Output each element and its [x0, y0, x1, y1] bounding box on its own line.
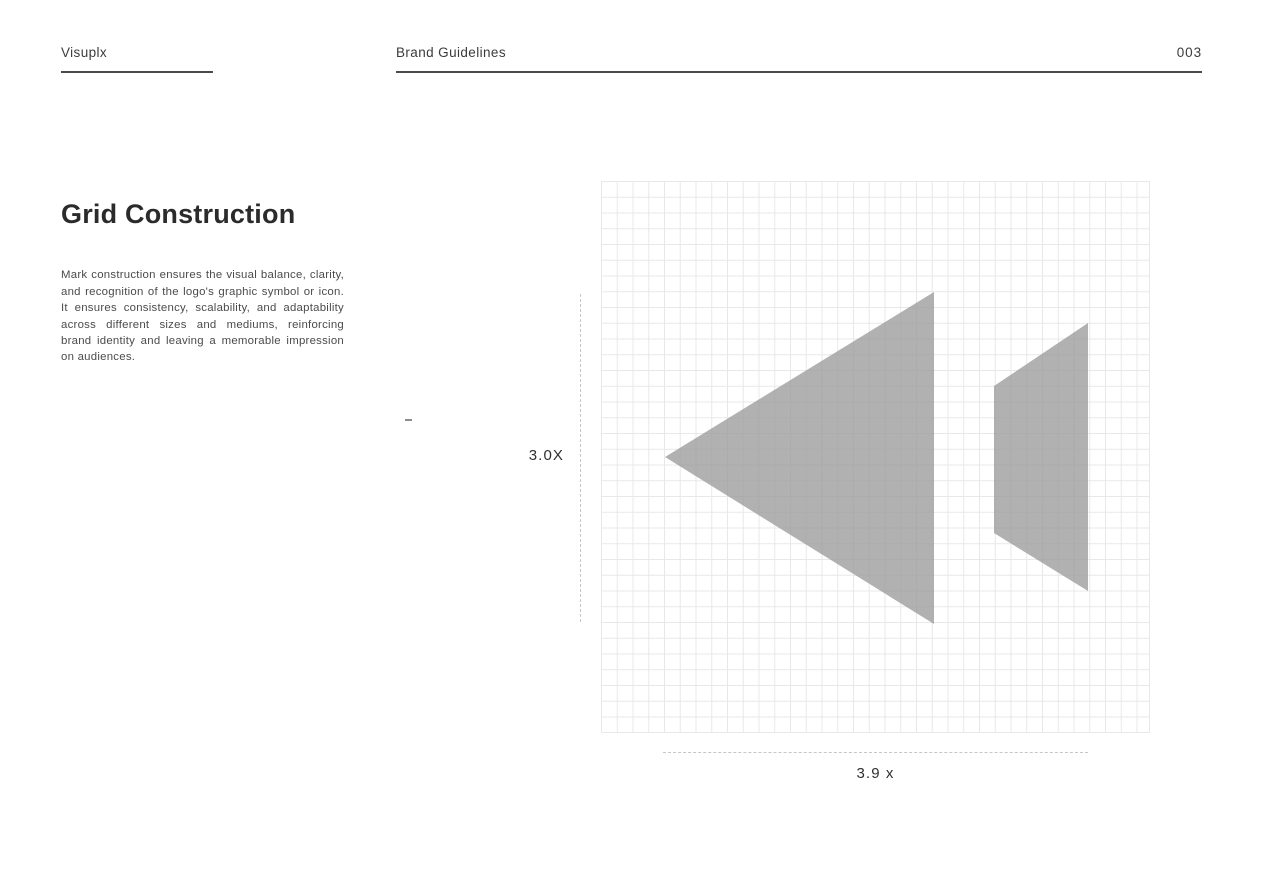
tick-mark-icon	[405, 419, 412, 421]
logo-mark-artwork	[601, 181, 1150, 733]
page-title: Grid Construction	[61, 199, 295, 230]
width-guide-line	[663, 752, 1088, 753]
header-section-title: Brand Guidelines	[396, 45, 506, 60]
play-triangle-shape	[665, 292, 934, 624]
height-guide-line	[580, 294, 581, 622]
body-paragraph: Mark construction ensures the visual bal…	[61, 267, 344, 365]
grid-construction-diagram	[601, 181, 1150, 733]
width-measure-label: 3.9 x	[663, 765, 1088, 782]
page-header: Visuplx Brand Guidelines 003	[0, 0, 1263, 90]
height-measure-label: 3.0X	[489, 447, 564, 464]
page-number: 003	[1177, 45, 1202, 60]
brand-wordmark: Visuplx	[61, 45, 107, 60]
accent-quad-shape	[994, 323, 1088, 591]
header-rule-left	[61, 71, 213, 73]
header-rule-main	[396, 71, 1202, 73]
